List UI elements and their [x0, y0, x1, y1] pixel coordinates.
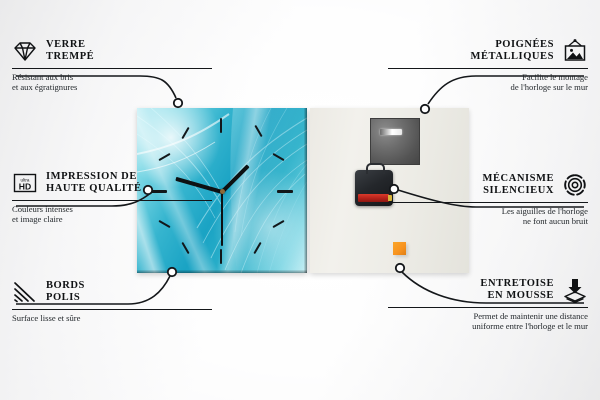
feature-description: Résistant aux bris et aux égratignures: [12, 72, 212, 92]
feature-heading: VERRE TREMPÉ: [12, 38, 212, 64]
feature-mecanisme-silencieux[interactable]: MÉCANISME SILENCIEUX Les aiguilles de l'…: [388, 172, 588, 226]
feature-divider: [388, 307, 588, 308]
clock-tick: [277, 190, 293, 193]
feature-bords-polis[interactable]: BORDS POLIS Surface lisse et sûre: [12, 279, 212, 323]
feature-description: Facilite le montage de l'horloge sur le …: [388, 72, 588, 92]
feature-title: IMPRESSION DE HAUTE QUALITÉ: [46, 171, 142, 196]
feature-description: Surface lisse et sûre: [12, 313, 212, 323]
clock-tick: [220, 249, 222, 264]
feature-heading: BORDS POLIS: [12, 279, 212, 305]
feature-title: MÉCANISME SILENCIEUX: [483, 173, 554, 198]
metal-hanger-plate: [370, 118, 420, 165]
aa-battery: [358, 194, 389, 202]
feature-divider: [12, 309, 212, 310]
connector-endpoint-verre-trempe: [174, 99, 182, 107]
feature-description: Permet de maintenir une distance uniform…: [388, 311, 588, 331]
ultra-hd-icon-main-label: HD: [19, 181, 31, 191]
press-down-layers-icon: [562, 277, 588, 303]
glass-bottom-edge: [137, 270, 307, 273]
polished-edge-icon: [12, 279, 38, 305]
feature-impression-haute-qualite[interactable]: ultra HD IMPRESSION DE HAUTE QUALITÉ Cou…: [12, 170, 212, 224]
feature-divider: [12, 68, 212, 69]
feature-heading: ENTRETOISE EN MOUSSE: [388, 277, 588, 303]
foam-spacer: [393, 242, 406, 255]
ultra-hd-icon: ultra HD: [12, 170, 38, 196]
infographic-canvas: VERRE TREMPÉ Résistant aux bris et aux é…: [0, 0, 600, 400]
feature-title: BORDS POLIS: [46, 280, 85, 305]
gear-icon: [562, 172, 588, 198]
clock-tick: [220, 118, 222, 133]
glass-right-edge: [304, 108, 307, 273]
feature-divider: [388, 68, 588, 69]
feature-poignees-metalliques[interactable]: POIGNÉES MÉTALLIQUES Facilite le montage…: [388, 38, 588, 92]
feature-heading: ultra HD IMPRESSION DE HAUTE QUALITÉ: [12, 170, 212, 196]
feature-description: Couleurs intenses et image claire: [12, 204, 212, 224]
feature-divider: [388, 202, 588, 203]
feature-divider: [12, 200, 212, 201]
feature-verre-trempe[interactable]: VERRE TREMPÉ Résistant aux bris et aux é…: [12, 38, 212, 92]
clock-center-pin: [220, 189, 225, 194]
picture-frame-hanging-icon: [562, 38, 588, 64]
clock-second-hand: [221, 192, 223, 246]
feature-title: ENTRETOISE EN MOUSSE: [480, 278, 554, 303]
feature-title: POIGNÉES MÉTALLIQUES: [471, 39, 554, 64]
feature-entretoise-en-mousse[interactable]: ENTRETOISE EN MOUSSE Permet de maintenir…: [388, 277, 588, 331]
feature-description: Les aiguilles de l'horloge ne font aucun…: [388, 206, 588, 226]
mechanism-hanger-loop: [366, 163, 385, 174]
diamond-icon: [12, 38, 38, 64]
feature-heading: MÉCANISME SILENCIEUX: [388, 172, 588, 198]
feature-heading: POIGNÉES MÉTALLIQUES: [388, 38, 588, 64]
feature-title: VERRE TREMPÉ: [46, 39, 94, 64]
